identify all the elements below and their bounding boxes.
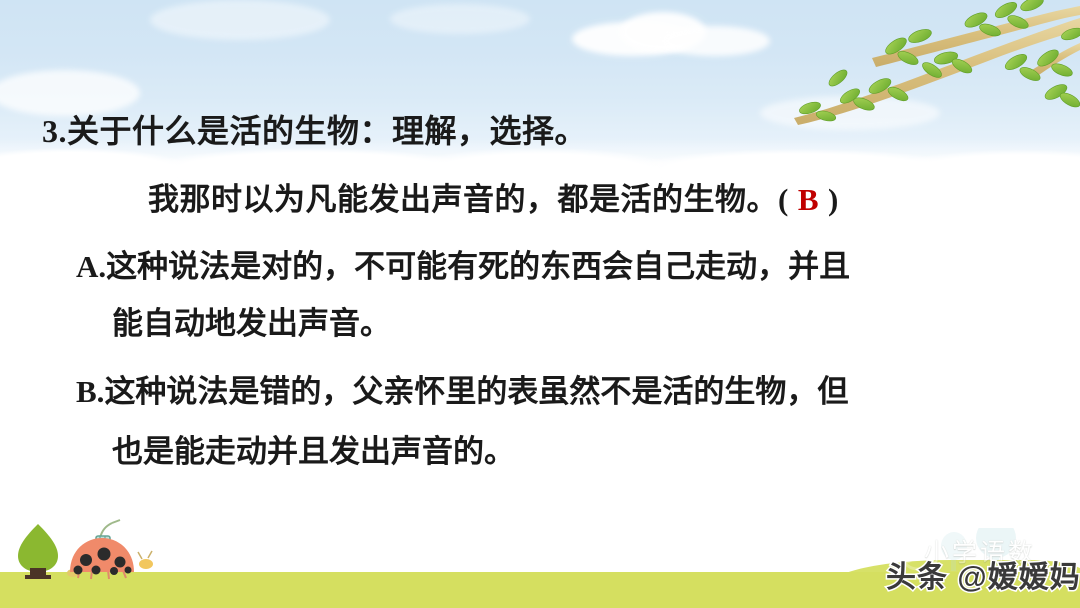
option-b-line-1: B.这种说法是错的，父亲怀里的表虽然不是活的生物，但 <box>76 366 848 411</box>
option-a-line-1: A.这种说法是对的，不可能有死的东西会自己走动，并且 <box>76 241 850 286</box>
stem-text-after: ) <box>828 182 839 217</box>
option-a-text-1: 这种说法是对的，不可能有死的东西会自己走动，并且 <box>106 249 850 284</box>
option-a-line-2: 能自动地发出声音。 <box>112 298 391 343</box>
question-stem: 我那时以为凡能发出声音的，都是活的生物。(B) <box>148 174 839 219</box>
option-b-line-2: 也是能走动并且发出声音的。 <box>112 426 515 471</box>
question-number: 3. <box>42 113 67 149</box>
stem-text-before: 我那时以为凡能发出声音的，都是活的生物。( <box>148 182 789 217</box>
option-b-letter: B. <box>76 374 104 409</box>
question-content: 3.关于什么是活的生物：理解，选择。 我那时以为凡能发出声音的，都是活的生物。(… <box>0 0 1080 608</box>
question-title: 3.关于什么是活的生物：理解，选择。 <box>42 106 587 152</box>
option-b-text-1: 这种说法是错的，父亲怀里的表虽然不是活的生物，但 <box>104 374 848 409</box>
answer-value: B <box>789 182 828 217</box>
slide-canvas: 小学语数 头条 @嫒嫒妈 3.关于什么是活的生物：理解，选择。 我那时以为凡能发… <box>0 0 1080 608</box>
question-title-text: 关于什么是活的生物：理解，选择。 <box>67 113 587 149</box>
option-a-letter: A. <box>76 249 106 284</box>
